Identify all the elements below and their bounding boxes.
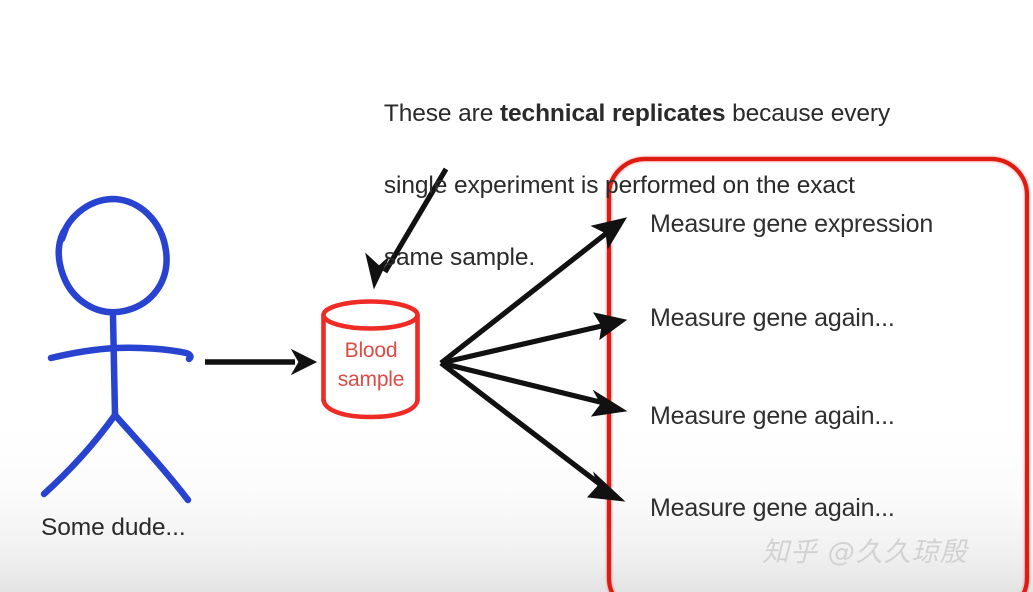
caption-line1-prefix: These are <box>384 100 500 127</box>
replicate-item-3: Measure gene again... <box>650 402 895 431</box>
caption-line2: single experiment is performed on the ex… <box>384 172 855 199</box>
caption-line1-suffix: because every <box>725 100 890 127</box>
caption-text: These are technical replicates because e… <box>357 60 917 312</box>
replicate-item-4: Measure gene again... <box>650 494 895 523</box>
person-label: Some dude... <box>41 514 186 542</box>
fan-arrow-3 <box>441 363 626 416</box>
caption-emphasis: technical replicates <box>500 100 725 127</box>
watermark: 知乎 @久久琼殷 <box>762 530 968 569</box>
replicate-item-2: Measure gene again... <box>650 304 895 333</box>
caption-line3: same sample. <box>384 244 535 271</box>
replicate-item-1: Measure gene expression <box>650 210 933 239</box>
slide-canvas: Blood sample <box>0 0 1033 592</box>
transfer-arrow <box>205 350 316 374</box>
